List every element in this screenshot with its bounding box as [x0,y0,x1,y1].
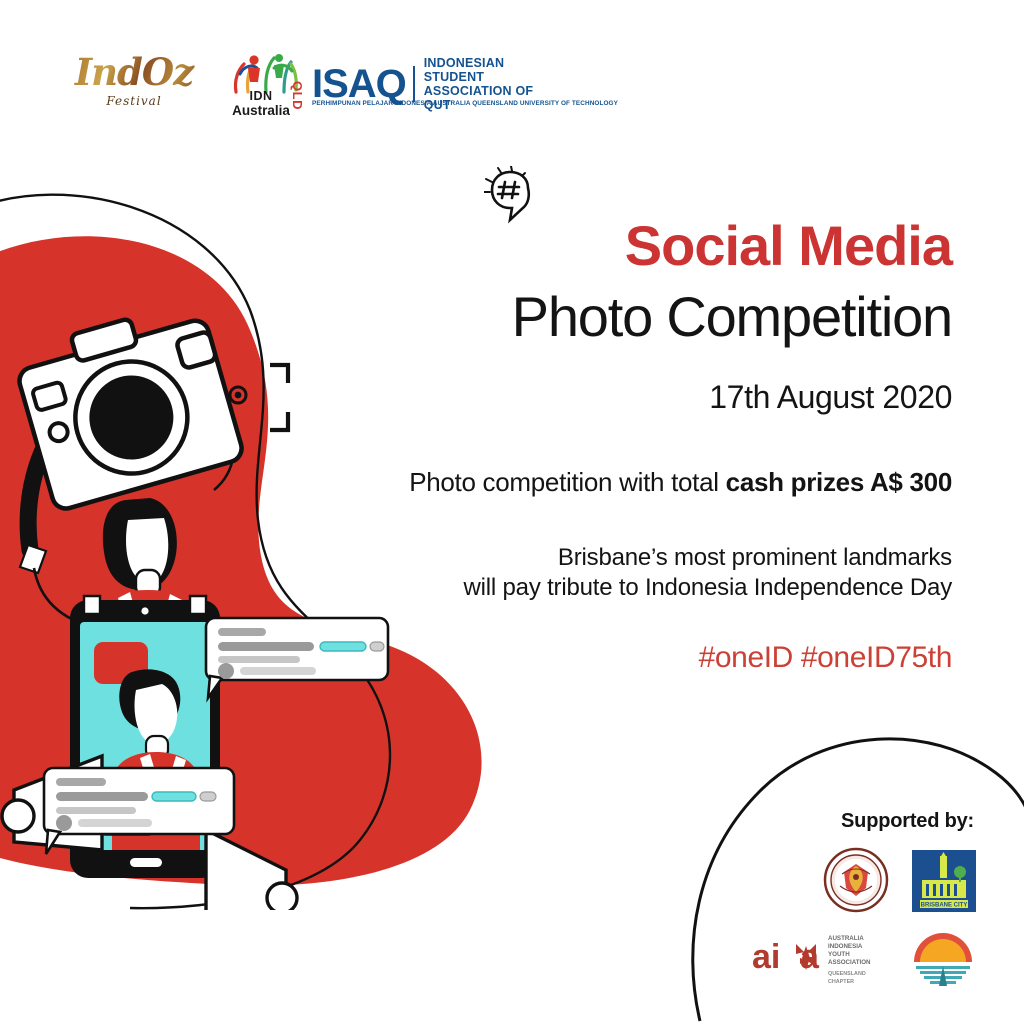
phone-grip-left [84,596,100,614]
supporter-logo-sunset [910,928,976,990]
indoz-festival-logo: IndOz Festival [68,52,200,118]
sunset-landmark-icon [910,928,976,990]
isaq-logo: ISAQ INDONESIAN STUDENT ASSOCIATION OF Q… [312,56,562,114]
aiya-line3: YOUTH [828,951,850,958]
focus-bracket [270,365,288,430]
supporter-logo-grid: BRISBANE CITY ai a AUSTRALIA I [752,846,988,998]
aiya-line5: QUEENSLAND [828,971,866,977]
prize-line: Photo competition with total cash prizes… [409,466,952,498]
tagline-block: Brisbane’s most prominent landmarks will… [464,543,952,603]
brisbane-city-icon: BRISBANE CITY [910,848,978,914]
indoz-subtitle: Festival [68,94,200,108]
idn-state-label: QLD [290,81,305,110]
consulate-seal-icon [820,846,892,914]
tagline-line2: will pay tribute to Indonesia Independen… [464,573,952,603]
supporter-logo-consulate [820,846,892,914]
indoz-wordmark: IndOz [68,52,200,92]
tagline-line1: Brisbane’s most prominent landmarks [464,543,952,573]
prize-prefix: Photo competition with total [409,467,725,497]
aiya-line1: AUSTRALIA [828,935,864,942]
supporter-logo-aiya: ai a AUSTRALIA INDONESIA YOUTH ASSOCIATI… [752,930,884,988]
aiya-line6: CHAPTER [828,979,854,985]
aiya-logo-icon: ai a AUSTRALIA INDONESIA YOUTH ASSOCIATI… [752,930,884,988]
header-logo-row: IndOz Festival [0,0,1024,140]
idn-text-block: IDN Australia [224,90,298,118]
main-illustration [0,150,520,910]
isaq-title-line2: ASSOCIATION OF QUT [424,84,562,112]
hashtags: #oneID #oneID75th [699,640,952,676]
idn-line2: Australia [224,103,298,118]
isaq-title-line1: INDONESIAN STUDENT [424,56,562,84]
phone-grip-right [190,596,206,614]
poster-canvas: IndOz Festival [0,0,1024,1024]
prize-amount: cash prizes A$ 300 [726,467,952,497]
isaq-divider [413,66,415,102]
supporter-logo-brisbane-city: BRISBANE CITY [910,848,978,914]
headline-social-media: Social Media [625,216,952,276]
aiya-line2: INDONESIA [828,943,863,950]
idn-line1: IDN [224,90,298,103]
supported-by-label: Supported by: [841,810,974,833]
isaq-acronym: ISAQ [312,64,406,104]
illustration-svg [0,150,520,910]
hashtag-speech-bubble-icon [484,166,564,238]
isaq-subtitle: PERHIMPUNAN PELAJAR INDONESIA AUSTRALIA … [312,100,562,107]
event-date: 17th August 2020 [709,378,952,416]
headline-photo-competition: Photo Competition [512,286,952,348]
aiya-line4: ASSOCIATION [828,959,871,966]
aiya-wordmark-left: ai [752,938,780,976]
brisbane-city-caption: BRISBANE CITY [921,902,968,908]
idn-australia-logo: IDN Australia QLD [224,46,308,122]
